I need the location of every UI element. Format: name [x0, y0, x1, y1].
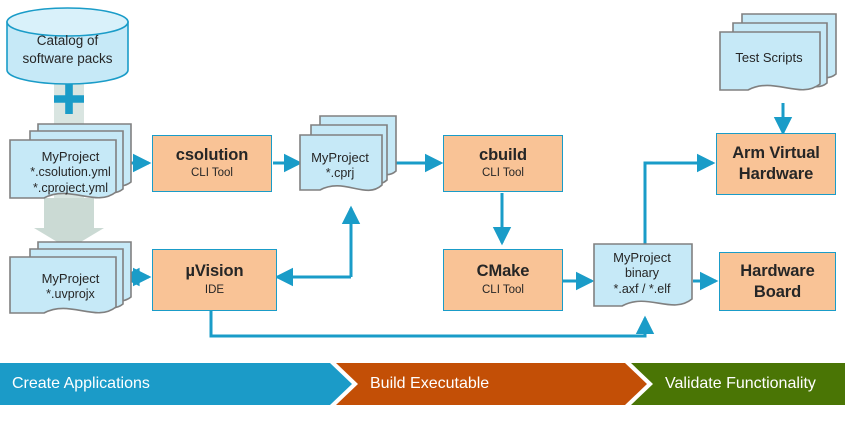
avh-line-2: Hardware — [739, 164, 813, 185]
wire-binary-to-avh — [645, 163, 713, 244]
cbuild-subtitle: CLI Tool — [482, 167, 524, 181]
uvision-title: µVision — [185, 262, 243, 281]
hardware-board-box[interactable]: Hardware Board — [719, 252, 836, 311]
project-binary-doc: MyProject binary *.axf / *.elf — [592, 242, 696, 322]
plus-icon — [52, 82, 86, 116]
uvision-subtitle: IDE — [205, 284, 224, 298]
cbuild-tool-box[interactable]: cbuild CLI Tool — [443, 135, 563, 192]
hardware-board-line-2: Board — [754, 282, 801, 303]
project-uvprojx-doc-stack: MyProject *.uvprojx — [8, 240, 133, 325]
cmake-subtitle: CLI Tool — [482, 284, 524, 298]
csolution-title: csolution — [176, 146, 248, 165]
cbuild-title: cbuild — [479, 146, 527, 165]
phase-create-applications[interactable]: Create Applications — [0, 363, 352, 405]
avh-line-1: Arm Virtual — [732, 143, 820, 164]
csolution-tool-box[interactable]: csolution CLI Tool — [152, 135, 272, 192]
cmake-title: CMake — [477, 262, 530, 281]
hardware-board-line-1: Hardware — [740, 261, 814, 282]
phase-validate-functionality-label: Validate Functionality — [665, 375, 816, 393]
catalog-label: Catalog of software packs — [5, 32, 130, 67]
project-yml-doc-stack: MyProject *.csolution.yml *.cproject.yml — [8, 122, 133, 210]
phase-build-executable-label: Build Executable — [370, 375, 489, 393]
workflow-diagram: Catalog of software packs MyProject *.cs… — [0, 0, 845, 436]
phase-validate-functionality[interactable]: Validate Functionality — [631, 363, 845, 405]
catalog-line-2: software packs — [22, 51, 112, 66]
phase-create-applications-label: Create Applications — [12, 375, 150, 393]
cmake-tool-box[interactable]: CMake CLI Tool — [443, 249, 563, 311]
arm-virtual-hardware-box[interactable]: Arm Virtual Hardware — [716, 133, 836, 195]
catalog-cylinder: Catalog of software packs — [5, 6, 130, 86]
project-cprj-doc-stack: MyProject *.cprj — [298, 114, 398, 206]
phase-build-executable[interactable]: Build Executable — [336, 363, 647, 405]
test-scripts-doc-stack: Test Scripts — [718, 12, 838, 107]
catalog-line-1: Catalog of — [37, 33, 99, 48]
uvision-tool-box[interactable]: µVision IDE — [152, 249, 277, 311]
phase-banner: Create Applications Build Executable Val… — [0, 363, 845, 405]
csolution-subtitle: CLI Tool — [191, 167, 233, 181]
